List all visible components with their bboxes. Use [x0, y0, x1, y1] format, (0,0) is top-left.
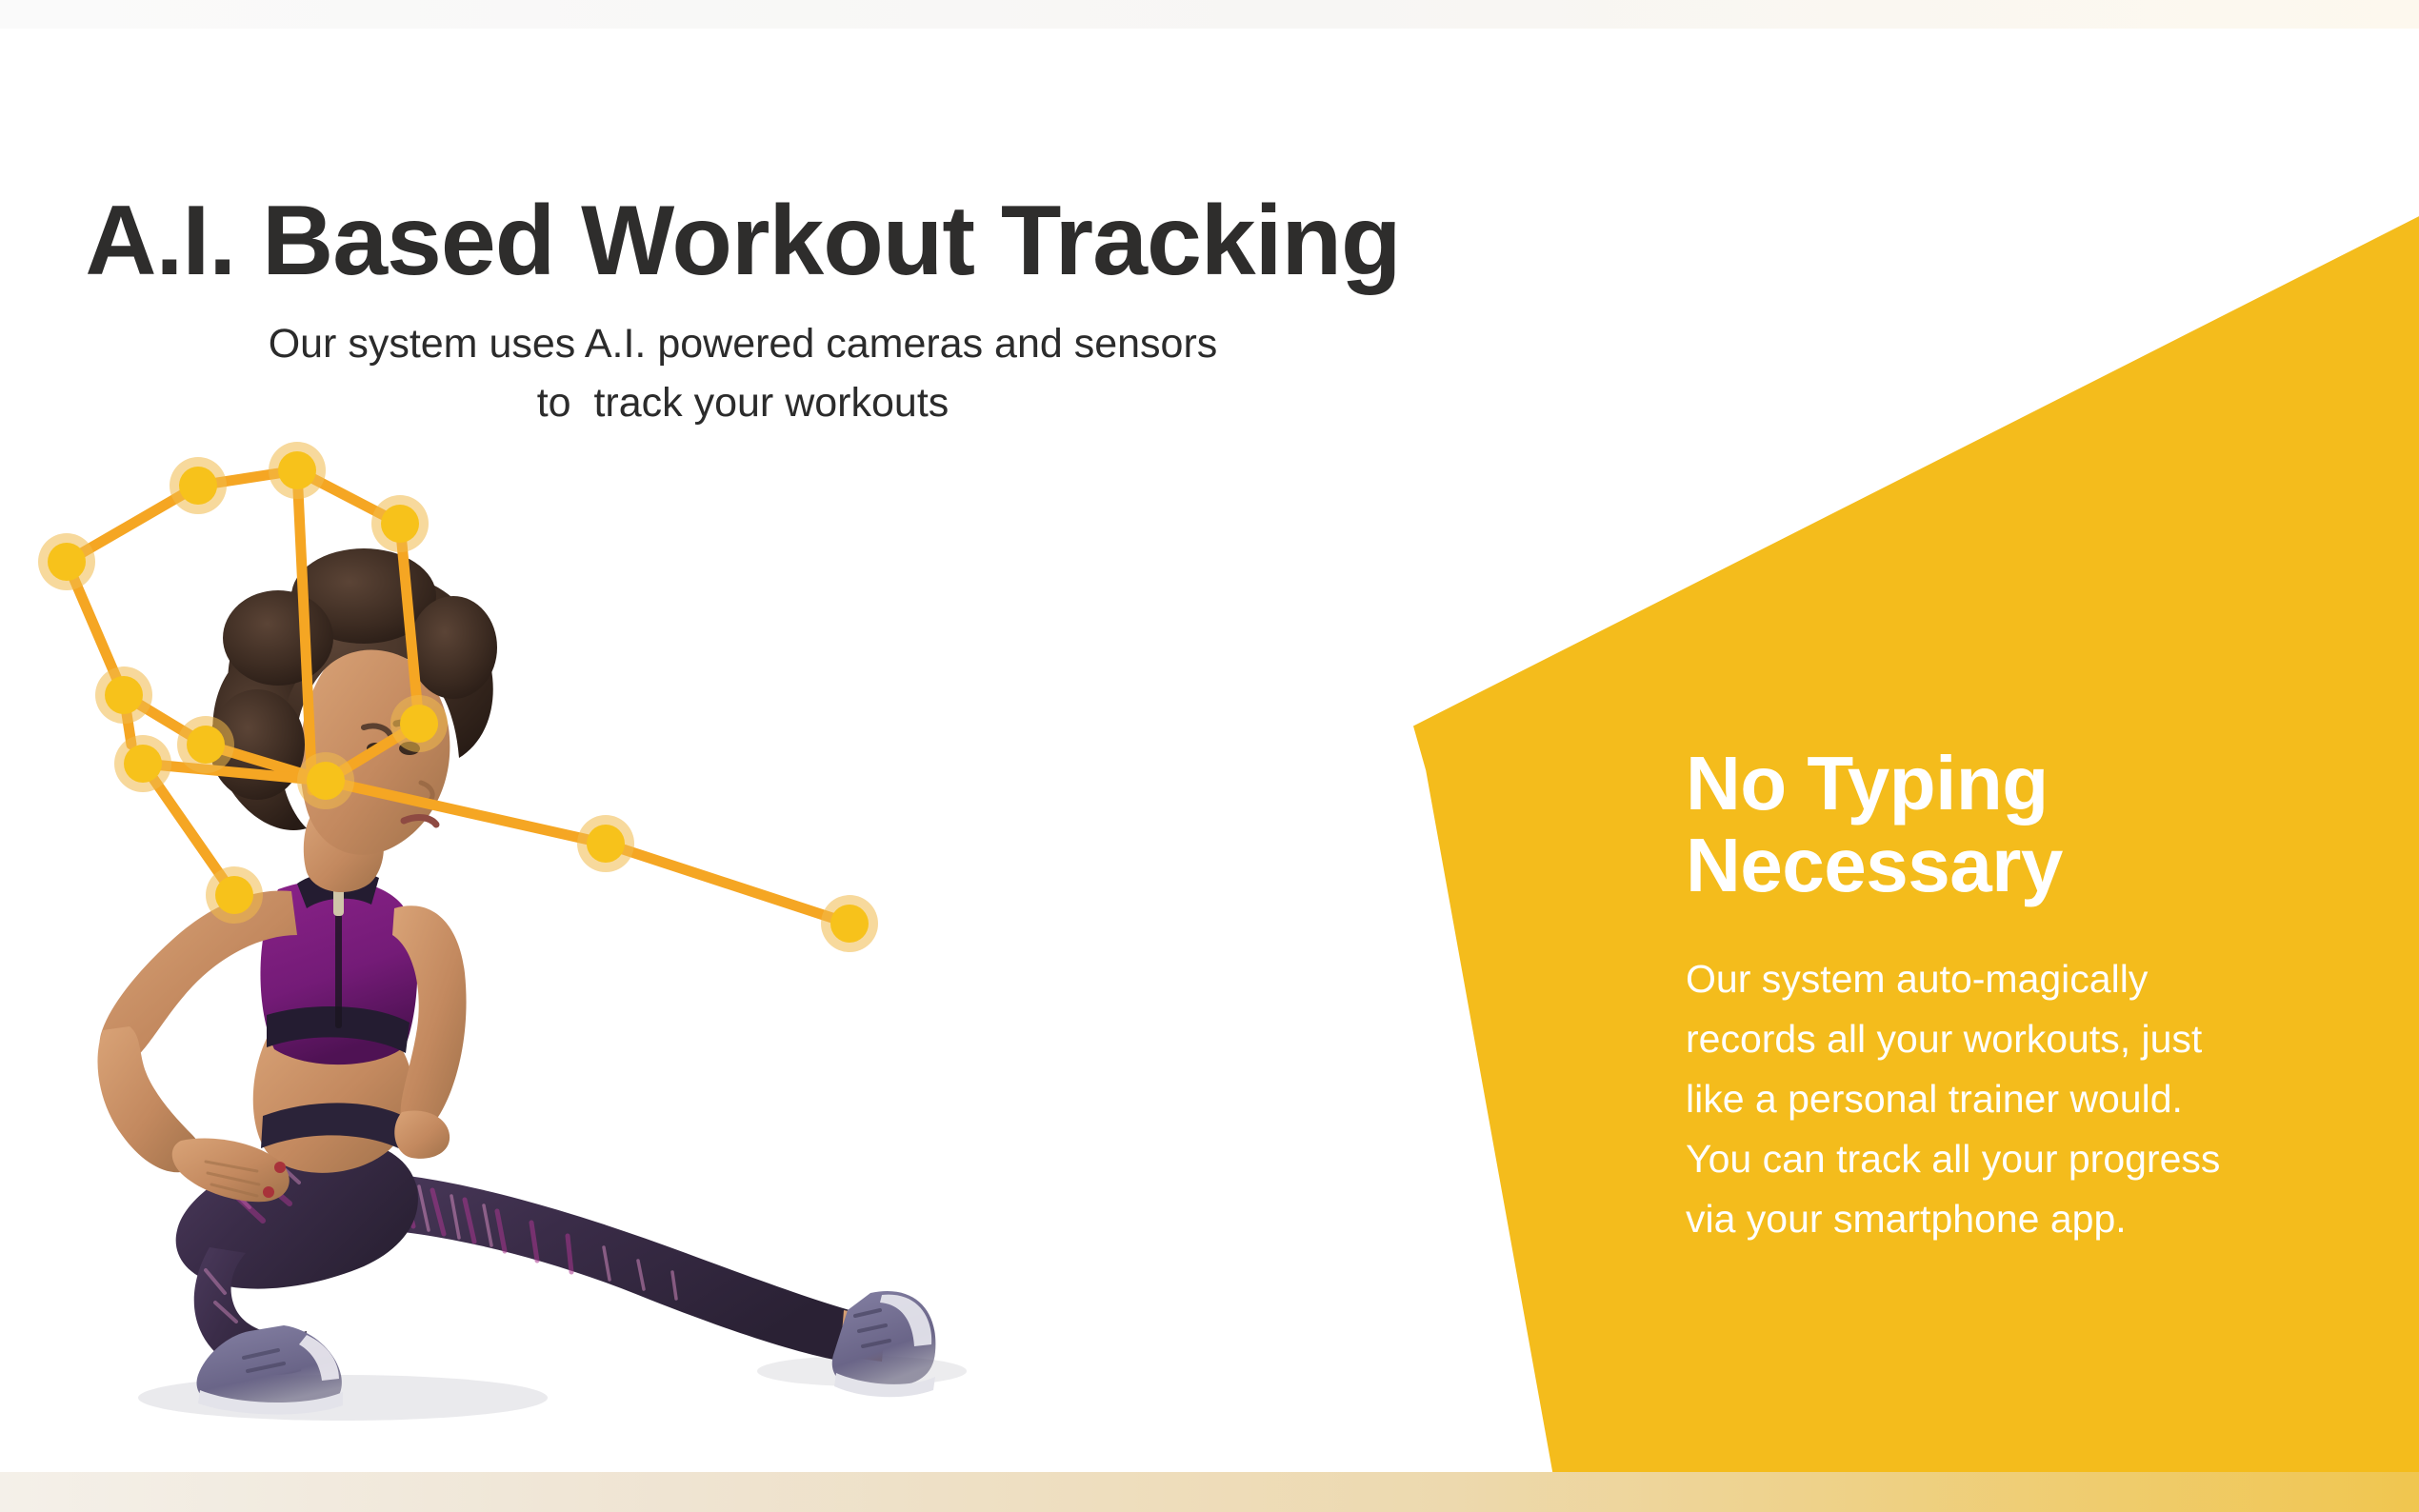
pose-skeleton-overlay [29, 409, 981, 1485]
highlight-panel-body-line-4: You can track all your progress [1686, 1129, 2371, 1189]
page-title: A.I. Based Workout Tracking [0, 189, 1486, 293]
page-subtitle: Our system uses A.I. powered cameras and… [0, 314, 1486, 433]
highlight-panel-content: No Typing Necessary Our system auto-magi… [1686, 743, 2371, 1249]
highlight-panel-title-line-2: Necessary [1686, 825, 2371, 906]
page-subtitle-line-2: to track your workouts [0, 373, 1486, 432]
pose-bones [67, 470, 850, 924]
top-decorative-band [0, 0, 2419, 29]
pose-joints [38, 442, 878, 952]
highlight-panel-body-line-1: Our system auto-magically [1686, 949, 2371, 1009]
slide-root: A.I. Based Workout Tracking Our system u… [0, 0, 2419, 1512]
page-subtitle-line-1: Our system uses A.I. powered cameras and… [0, 314, 1486, 373]
highlight-panel-body-line-2: records all your workouts, just [1686, 1009, 2371, 1069]
highlight-panel-body-line-3: like a personal trainer would. [1686, 1069, 2371, 1129]
highlight-panel-body-line-5: via your smartphone app. [1686, 1189, 2371, 1249]
athlete-figure [29, 409, 981, 1485]
highlight-panel-title: No Typing Necessary [1686, 743, 2371, 907]
highlight-panel-title-line-1: No Typing [1686, 743, 2371, 825]
highlight-panel-body: Our system auto-magically records all yo… [1686, 949, 2371, 1250]
bottom-decorative-band [0, 1472, 2419, 1512]
